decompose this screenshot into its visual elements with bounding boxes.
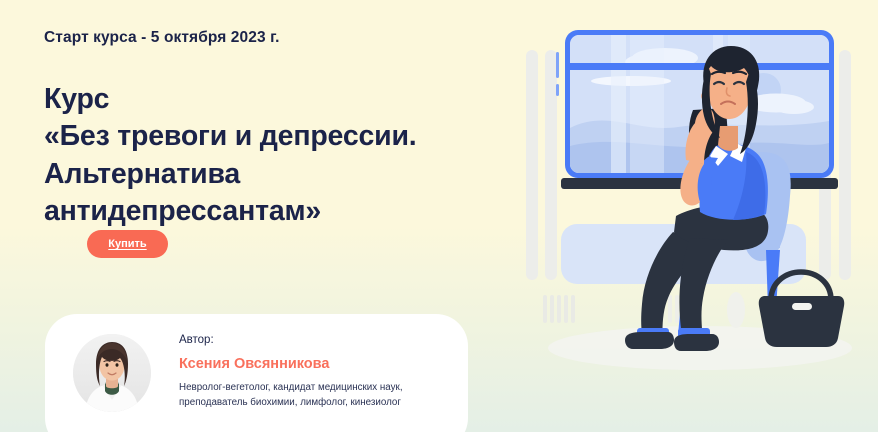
headline-line-2: «Без тревоги и депрессии. [44, 118, 494, 155]
headline-line-3: Альтернатива [44, 156, 494, 193]
author-label: Автор: [179, 334, 409, 348]
avatar [73, 334, 151, 412]
author-name: Ксения Овсянникова [179, 356, 409, 373]
author-card: Автор: Ксения Овсянникова Невролог-вегет… [45, 314, 468, 432]
course-start-date: Старт курса - 5 октября 2023 г. [44, 29, 280, 47]
wall-bars-left [526, 50, 557, 280]
buy-button[interactable]: Купить [87, 230, 168, 258]
author-details: Автор: Ксения Овсянникова Невролог-вегет… [179, 330, 409, 411]
author-description: Невролог-вегетолог, кандидат медицинских… [179, 380, 409, 410]
radiator-slats [543, 295, 575, 323]
promo-banner: Старт курса - 5 октября 2023 г. Курс «Бе… [0, 0, 878, 432]
headline-line-4: антидепрессантам» [44, 193, 494, 230]
hero-illustration [518, 0, 878, 432]
page-title: Курс «Без тревоги и депрессии. Альтернат… [44, 81, 494, 230]
headline-line-1: Курс [44, 81, 494, 118]
